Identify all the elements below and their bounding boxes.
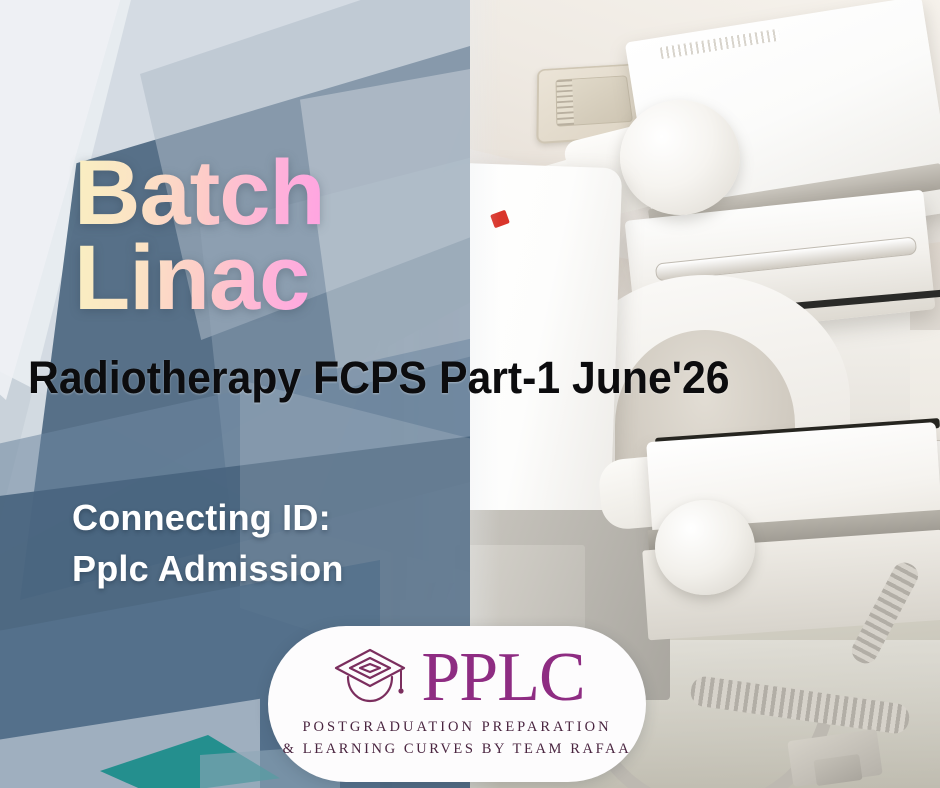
logo-tagline: POSTGRADUATION PREPARATION & LEARNING CU… <box>283 717 632 761</box>
vent-louvers <box>557 80 575 126</box>
pplc-logo: PPLC POSTGRADUATION PREPARATION & LEARNI… <box>268 626 646 782</box>
headline-line-1: Batch <box>74 152 325 235</box>
logo-tagline-line-1: POSTGRADUATION PREPARATION <box>283 717 632 739</box>
logo-wordmark-row: PPLC <box>329 645 584 711</box>
logo-wordmark-text: PPLC <box>421 648 584 708</box>
connecting-id-label: Connecting ID: <box>72 492 344 543</box>
collimator-head <box>620 100 740 215</box>
graduation-cap-icon <box>329 645 413 711</box>
headline-line-2: Linac <box>74 237 325 320</box>
promo-poster: Batch Linac Radiotherapy FCPS Part-1 Jun… <box>0 0 940 788</box>
connecting-id-block: Connecting ID: Pplc Admission <box>72 492 344 594</box>
logo-tagline-line-2: & LEARNING CURVES BY TEAM RAFAA <box>283 739 632 761</box>
connecting-id-value: Pplc Admission <box>72 543 344 594</box>
ceiling-vent-grille <box>556 75 634 126</box>
poster-headline: Batch Linac <box>74 152 325 320</box>
poster-subtitle: Radiotherapy FCPS Part-1 June'26 <box>28 352 730 404</box>
